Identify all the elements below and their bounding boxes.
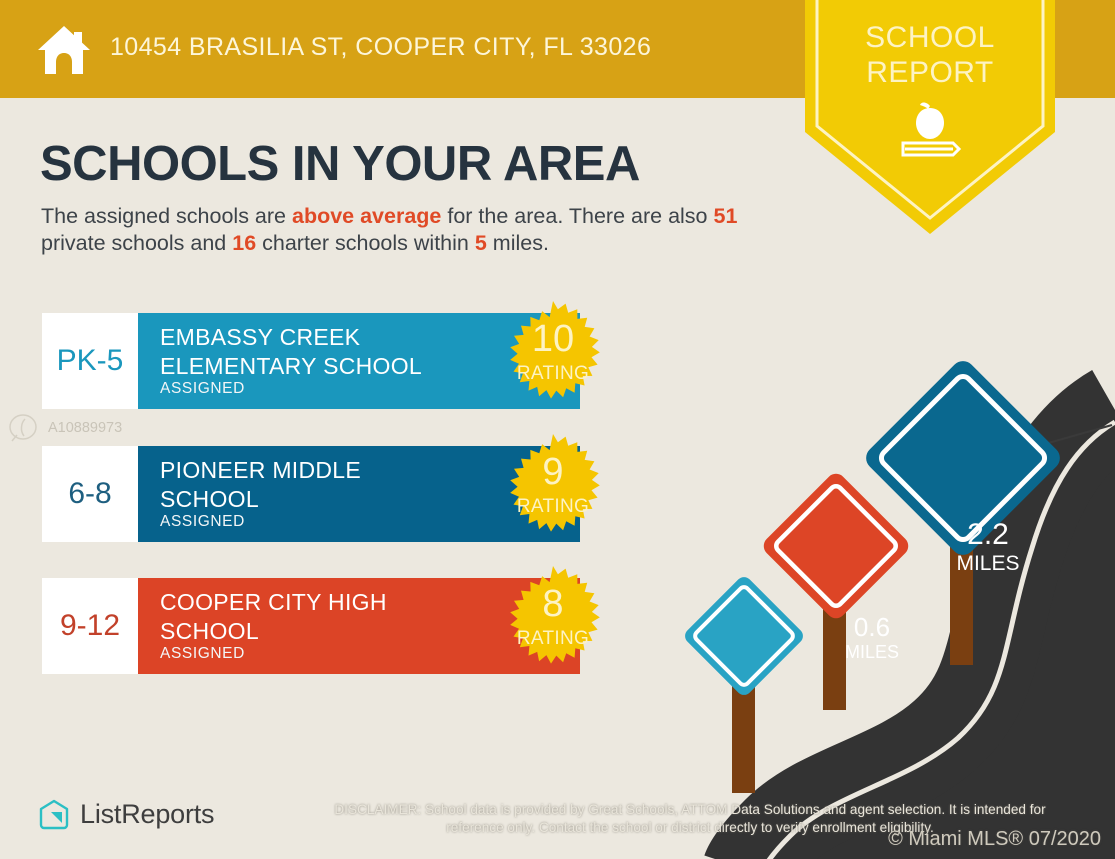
rating-label: RATING	[494, 363, 612, 385]
subtitle-part1: The assigned schools are	[41, 204, 292, 228]
school-row[interactable]: 9-12 COOPER CITY HIGH SCHOOL ASSIGNED 8 …	[42, 578, 622, 674]
badge-icon-group	[797, 96, 1063, 163]
mls-id-watermark: A10889973	[8, 405, 188, 450]
house-icon	[36, 24, 92, 76]
school-report-infographic: 2.6 MILES 2.2 MILES 0.6 MILES	[0, 0, 1115, 859]
rating-label: RATING	[494, 496, 612, 518]
sign-unit-3: MILES	[1063, 466, 1115, 498]
sign-unit-2: MILES	[912, 552, 1064, 576]
grade-range-label: 9-12	[60, 609, 120, 643]
grade-range-box: 6-8	[42, 446, 138, 542]
distance-sign-1: 0.6 MILES	[680, 572, 808, 700]
badge-title-line1: SCHOOL	[797, 20, 1063, 55]
grade-range-label: 6-8	[68, 477, 111, 511]
listreports-house-icon	[38, 798, 70, 830]
subtitle-part2: for the area. There are also	[441, 204, 713, 228]
page-subtitle: The assigned schools are above average f…	[41, 203, 781, 257]
sign-value-1: 0.6	[808, 612, 936, 643]
school-status: ASSIGNED	[160, 513, 245, 531]
mls-id-text: A10889973	[48, 420, 122, 436]
school-row[interactable]: PK-5 EMBASSY CREEK ELEMENTARY SCHOOL ASS…	[42, 313, 622, 409]
sign-unit-1: MILES	[808, 642, 936, 663]
book-icon	[903, 143, 959, 155]
apple-and-book-icon	[885, 96, 975, 158]
property-address: 10454 BRASILIA ST, COOPER CITY, FL 33026	[110, 33, 651, 62]
subtitle-private-count: 51	[713, 204, 737, 228]
grade-range-box: 9-12	[42, 578, 138, 674]
rating-label: RATING	[494, 628, 612, 650]
page-title: SCHOOLS IN YOUR AREA	[40, 136, 640, 192]
grade-range-label: PK-5	[57, 344, 124, 378]
diamond-shape-1	[680, 572, 808, 700]
subtitle-part5: miles.	[487, 231, 549, 255]
rating-starburst: 8 RATING	[494, 566, 612, 684]
subtitle-radius-miles: 5	[475, 231, 487, 255]
mls-watermark-icon	[8, 411, 42, 445]
listreports-logo[interactable]: ListReports	[38, 798, 214, 830]
listreports-brand-name: ListReports	[80, 799, 214, 830]
sign-value-2: 2.2	[912, 518, 1064, 552]
school-report-badge: SCHOOL REPORT	[797, 0, 1063, 242]
rating-value: 9	[494, 452, 612, 492]
rating-value: 8	[494, 584, 612, 624]
school-row[interactable]: 6-8 PIONEER MIDDLE SCHOOL ASSIGNED 9 RAT…	[42, 446, 622, 542]
subtitle-part4: charter schools within	[256, 231, 475, 255]
rating-starburst: 10 RATING	[494, 301, 612, 419]
road-scene: 2.6 MILES 2.2 MILES 0.6 MILES	[660, 350, 1115, 859]
rating-starburst: 9 RATING	[494, 434, 612, 552]
badge-title: SCHOOL REPORT	[797, 20, 1063, 90]
badge-title-line2: REPORT	[797, 55, 1063, 90]
subtitle-highlight-rating: above average	[292, 204, 441, 228]
school-status: ASSIGNED	[160, 645, 245, 663]
grade-range-box: PK-5	[42, 313, 138, 409]
apple-icon	[916, 103, 944, 140]
school-status: ASSIGNED	[160, 380, 245, 398]
mls-copyright-watermark: © Miami MLS® 07/2020	[888, 828, 1101, 851]
subtitle-charter-count: 16	[232, 231, 256, 255]
rating-value: 10	[494, 319, 612, 359]
subtitle-part3: private schools and	[41, 231, 232, 255]
sign-value-3: 2.6	[1063, 422, 1115, 466]
